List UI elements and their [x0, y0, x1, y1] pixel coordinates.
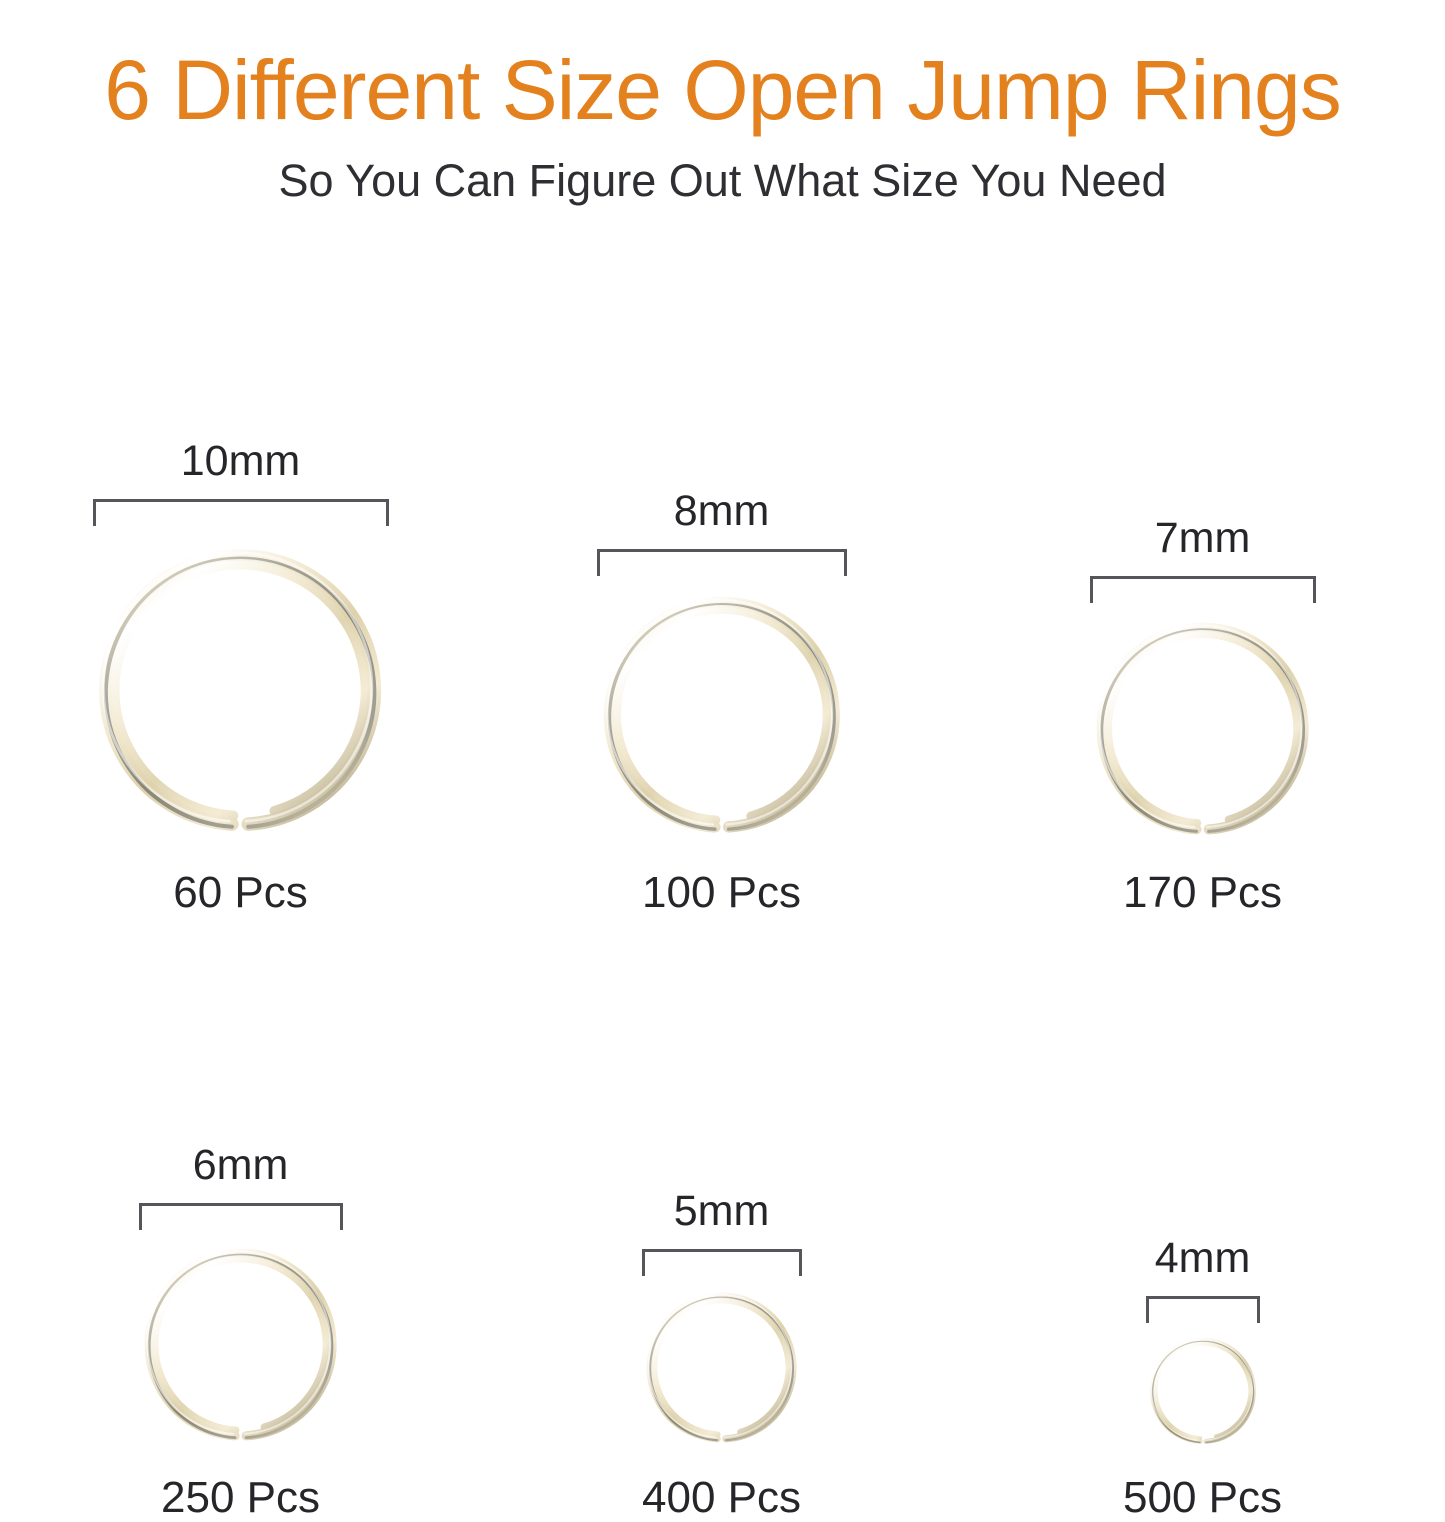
jump-ring-illustration: [135, 1239, 346, 1450]
jump-ring-illustration: [639, 1285, 804, 1450]
ring-size-label: 5mm: [674, 1190, 770, 1233]
measurement-bracket-icon: [139, 1203, 343, 1229]
measurement-bracket-icon: [1146, 1296, 1260, 1322]
ring-cell-4mm: 4mm 500 Pcs: [962, 1000, 1443, 1520]
ring-cell-7mm: 7mm 170 Pcs: [962, 395, 1443, 915]
ring-size-grid: 10mm 60 Pcs 8mm: [0, 300, 1445, 1445]
page-subtitle: So You Can Figure Out What Size You Need: [0, 158, 1445, 203]
measurement-bracket-icon: [642, 1249, 802, 1275]
ring-row-1: 10mm 60 Pcs 8mm: [0, 395, 1445, 915]
measurement-bracket-icon: [597, 549, 847, 575]
ring-cell-10mm: 10mm 60 Pcs: [0, 395, 481, 915]
ring-count-label: 100 Pcs: [642, 871, 801, 915]
ring-row-2: 6mm 250 Pcs 5mm: [0, 1000, 1445, 1520]
infographic-header: 6 Different Size Open Jump Rings So You …: [0, 0, 1445, 203]
measurement-bracket-icon: [93, 499, 389, 525]
ring-cell-6mm: 6mm 250 Pcs: [0, 1000, 481, 1520]
jump-ring-illustration: [592, 585, 852, 845]
ring-cell-5mm: 5mm 400 Pcs: [481, 1000, 962, 1520]
ring-count-label: 250 Pcs: [161, 1476, 320, 1520]
ring-size-label: 7mm: [1155, 517, 1251, 560]
ring-size-label: 4mm: [1155, 1237, 1251, 1280]
ring-size-label: 8mm: [674, 490, 770, 533]
ring-count-label: 60 Pcs: [173, 871, 308, 915]
jump-ring-illustration: [85, 535, 395, 845]
measurement-bracket-icon: [1090, 576, 1316, 602]
ring-count-label: 500 Pcs: [1123, 1476, 1282, 1520]
ring-count-label: 400 Pcs: [642, 1476, 801, 1520]
page-title: 6 Different Size Open Jump Rings: [0, 48, 1445, 132]
ring-size-label: 6mm: [193, 1144, 289, 1187]
ring-count-label: 170 Pcs: [1123, 871, 1282, 915]
ring-size-label: 10mm: [181, 440, 300, 483]
ring-cell-8mm: 8mm 100 Pcs: [481, 395, 962, 915]
jump-ring-illustration: [1086, 612, 1319, 845]
jump-ring-illustration: [1144, 1332, 1262, 1450]
